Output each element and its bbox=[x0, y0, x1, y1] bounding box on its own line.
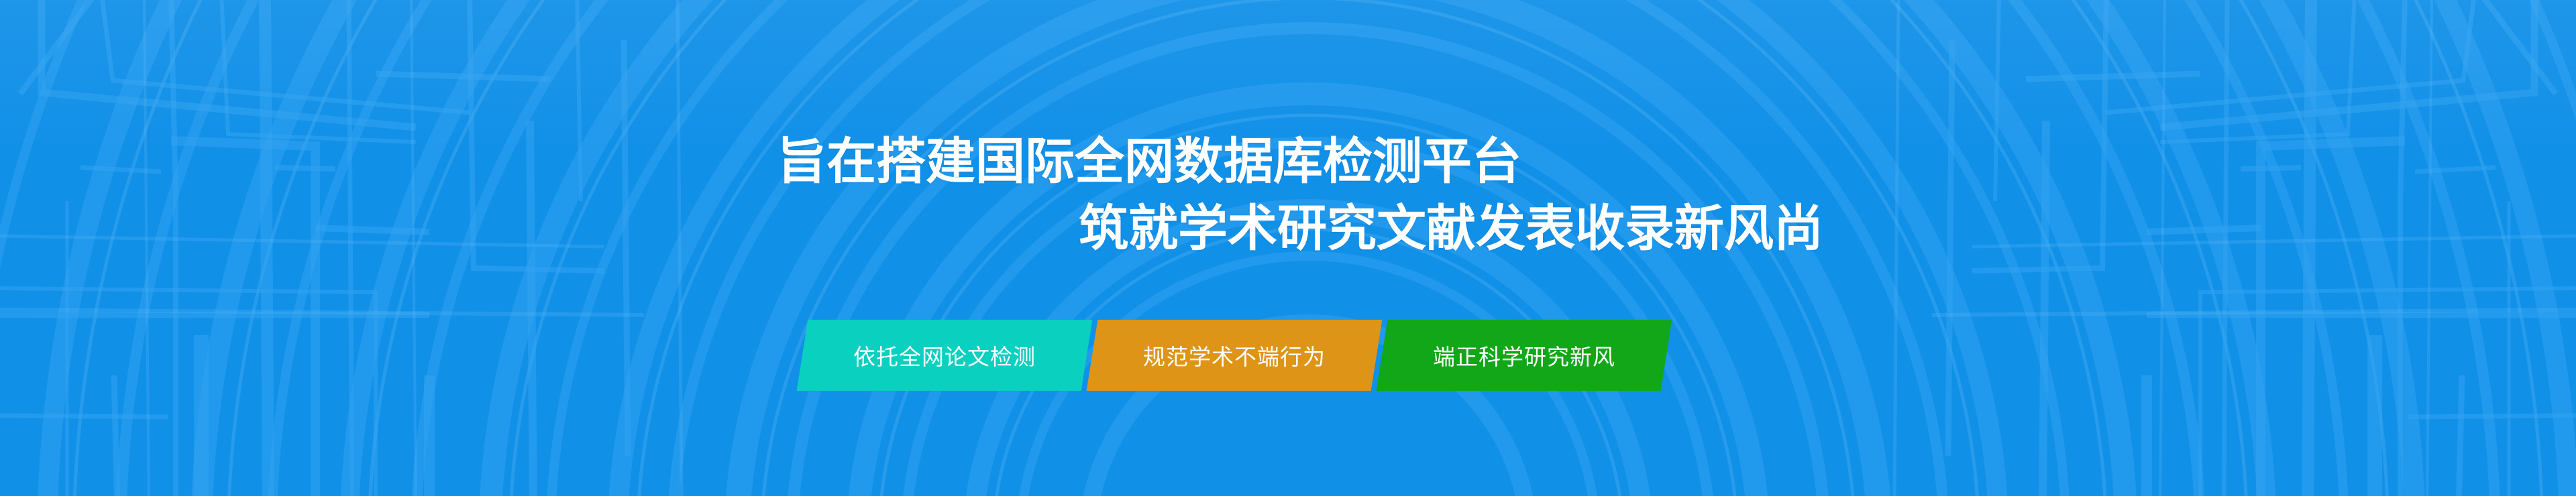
headline-line-2: 筑就学术研究文献发表收录新风尚 bbox=[1079, 204, 1823, 253]
feature-tag-3-label: 端正科学研究新风 bbox=[1433, 339, 1615, 371]
feature-tag-1[interactable]: 依托全网论文检测 bbox=[797, 320, 1093, 391]
feature-tag-2[interactable]: 规范学术不端行为 bbox=[1087, 320, 1383, 391]
feature-tag-1-label: 依托全网论文检测 bbox=[853, 339, 1036, 371]
hero-banner: 旨在搭建国际全网数据库检测平台 筑就学术研究文献发表收录新风尚 依托全网论文检测… bbox=[0, 0, 2576, 496]
feature-tag-bar: 依托全网论文检测 规范学术不端行为 端正科学研究新风 bbox=[0, 320, 2576, 392]
feature-tag-2-label: 规范学术不端行为 bbox=[1143, 339, 1326, 371]
headline-line-1: 旨在搭建国际全网数据库检测平台 bbox=[777, 137, 1521, 186]
feature-tag-3[interactable]: 端正科学研究新风 bbox=[1377, 320, 1672, 391]
